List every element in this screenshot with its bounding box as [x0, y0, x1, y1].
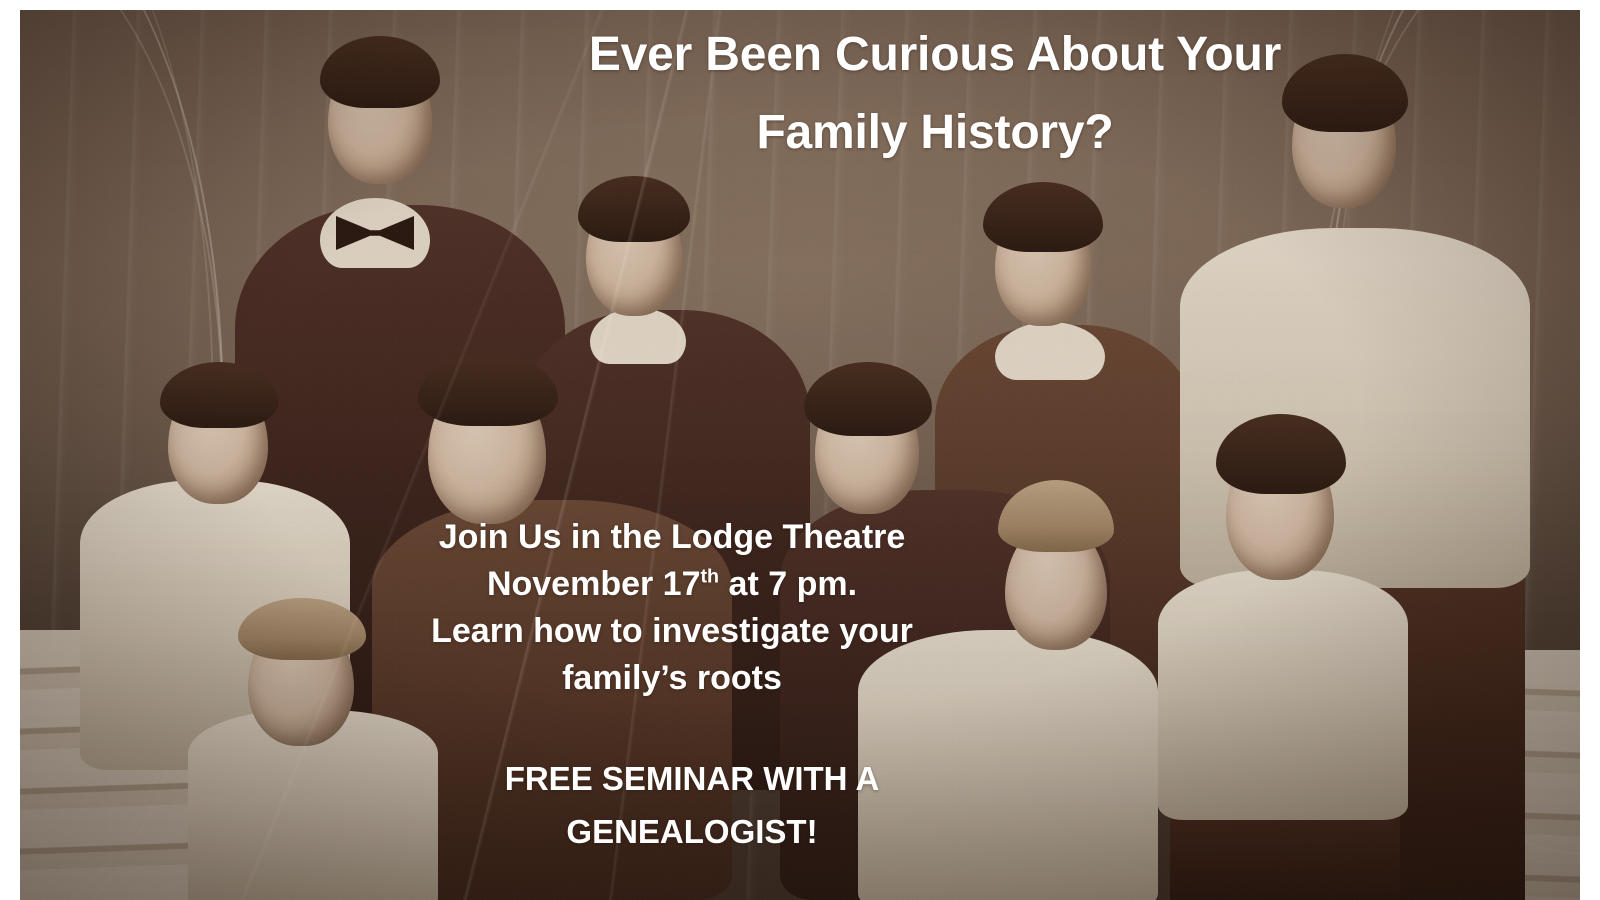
family-photograph — [20, 10, 1580, 900]
poster-canvas: Ever Been Curious About Your Family Hist… — [0, 0, 1600, 900]
photo-content — [20, 10, 1580, 900]
